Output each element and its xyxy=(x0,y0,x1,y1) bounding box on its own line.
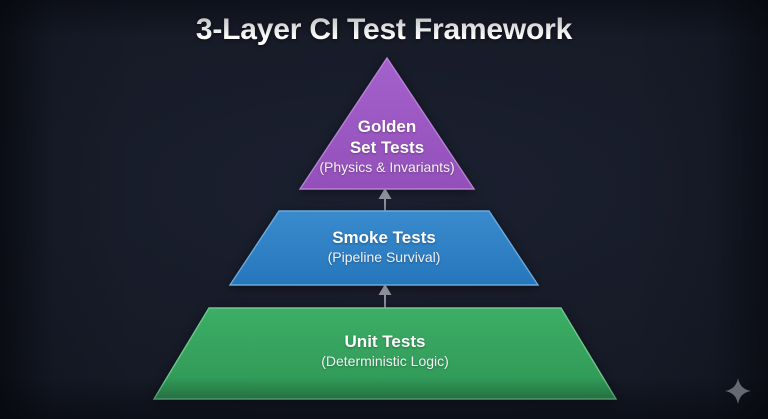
slide-canvas: 3-Layer CI Test Framework Golden Set Tes… xyxy=(0,0,768,419)
pyramid-layer-smoke-tests[interactable]: Smoke Tests (Pipeline Survival) xyxy=(228,209,540,287)
trapezoid-shape-smoke xyxy=(228,209,540,287)
sparkle-icon xyxy=(724,377,752,405)
pyramid-layer-unit-tests[interactable]: Unit Tests (Deterministic Logic) xyxy=(152,306,618,401)
page-title: 3-Layer CI Test Framework xyxy=(0,13,768,47)
trapezoid-shape-unit xyxy=(152,306,618,401)
pyramid-layer-golden-set-tests[interactable]: Golden Set Tests (Physics & Invariants) xyxy=(298,56,476,192)
triangle-shape-golden xyxy=(298,56,476,192)
